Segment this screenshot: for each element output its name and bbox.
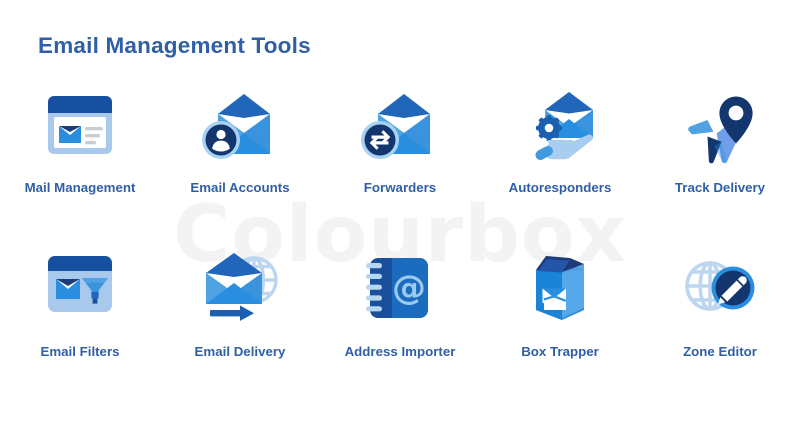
icon-card-forwarders[interactable]: Forwarders [320,88,480,195]
icon-set-canvas: Colourbox Email Management Tools [0,0,800,427]
icon-label: Email Accounts [190,180,289,195]
icon-card-box-trapper[interactable]: Box Trapper [480,246,640,359]
icon-label: Zone Editor [683,344,757,359]
email-filters-icon [32,246,128,332]
icon-label: Autoresponders [509,180,612,195]
forwarders-icon [352,88,448,174]
icon-row-1: Mail Management Email Accounts [0,88,800,195]
icon-card-mail-management[interactable]: Mail Management [0,88,160,195]
icon-card-email-filters[interactable]: Email Filters [0,246,160,359]
email-accounts-icon [192,88,288,174]
icon-label: Box Trapper [521,344,599,359]
mail-management-icon [32,88,128,174]
address-importer-icon: @ [352,246,448,332]
icon-card-email-accounts[interactable]: Email Accounts [160,88,320,195]
icon-card-zone-editor[interactable]: Zone Editor [640,246,800,359]
icon-card-track-delivery[interactable]: Track Delivery [640,88,800,195]
zone-editor-icon [672,246,768,332]
icon-label: Address Importer [345,344,456,359]
box-trapper-icon [512,246,608,332]
icon-card-email-delivery[interactable]: Email Delivery [160,246,320,359]
icon-label: Track Delivery [675,180,765,195]
page-title: Email Management Tools [38,33,311,59]
icon-label: Forwarders [364,180,436,195]
icon-card-address-importer[interactable]: @ Address Importer [320,246,480,359]
icon-label: Email Filters [40,344,119,359]
icon-label: Mail Management [25,180,136,195]
icon-row-2: Email Filters [0,246,800,359]
icon-card-autoresponders[interactable]: Autoresponders [480,88,640,195]
track-delivery-icon [672,88,768,174]
at-symbol-glyph: @ [392,268,426,308]
autoresponders-icon [512,88,608,174]
icon-label: Email Delivery [195,344,286,359]
email-delivery-icon [192,246,288,332]
